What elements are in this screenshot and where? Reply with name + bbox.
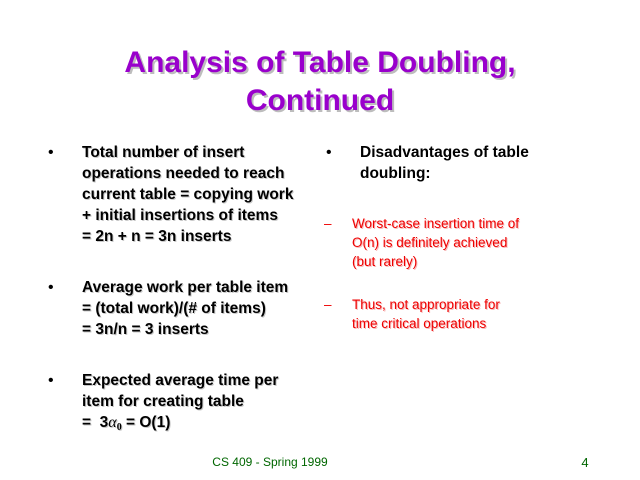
slide-title-line-2: Continued (40, 82, 600, 120)
bullet-line: = (total work)/(# of items) (82, 298, 330, 319)
sub-bullet-text: Worst-case insertion time of O(n) is def… (352, 214, 618, 271)
sub-bullet-item-not-appropriate: – Thus, not appropriate for time critica… (318, 295, 618, 333)
bullet-item-expected-time: • Expected average time per item for cre… (40, 370, 330, 438)
formula-prefix: = 3 (82, 414, 108, 431)
slide-canvas: Analysis of Table Doubling, Continued • … (0, 0, 640, 480)
sub-bullet-line: (but rarely) (352, 252, 618, 271)
left-content-column: • Total number of insert operations need… (40, 142, 330, 468)
bullet-line: operations needed to reach (82, 163, 330, 184)
sub-bullet-line: O(n) is definitely achieved (352, 233, 618, 252)
bullet-marker-icon: • (48, 370, 54, 391)
bullet-item-disadvantages: • Disadvantages of table doubling: (318, 142, 618, 184)
formula-alpha-symbol: α (108, 414, 116, 431)
slide-title-line-1: Analysis of Table Doubling, (40, 44, 600, 82)
sub-bullet-line: Worst-case insertion time of (352, 214, 618, 233)
bullet-marker-icon: • (48, 142, 54, 163)
bullet-line: Disadvantages of table (360, 142, 618, 163)
bullet-line: = 3n/n = 3 inserts (82, 319, 330, 340)
bullet-line: + initial insertions of items (82, 205, 330, 226)
right-content-column: • Disadvantages of table doubling: – Wor… (318, 142, 618, 357)
bullet-line: = 2n + n = 3n inserts (82, 226, 330, 247)
sub-bullet-line: time critical operations (352, 314, 618, 333)
bullet-item-total-inserts: • Total number of insert operations need… (40, 142, 330, 247)
bullet-item-average-work: • Average work per table item = (total w… (40, 277, 330, 340)
bullet-line: Expected average time per (82, 370, 330, 391)
bullet-text: Expected average time per item for creat… (82, 370, 330, 438)
dash-marker-icon: – (324, 214, 332, 233)
bullet-line: current table = copying work (82, 184, 330, 205)
bullet-formula: = 3α0 = O(1) (82, 412, 330, 438)
bullet-text: Total number of insert operations needed… (82, 142, 330, 247)
dash-marker-icon: – (324, 295, 332, 314)
bullet-marker-icon: • (326, 142, 332, 163)
bullet-line: doubling: (360, 163, 618, 184)
bullet-marker-icon: • (48, 277, 54, 298)
bullet-line: item for creating table (82, 391, 330, 412)
footer-page-number: 4 (560, 455, 610, 470)
sub-bullet-list: – Worst-case insertion time of O(n) is d… (318, 214, 618, 333)
formula-suffix: = O(1) (122, 414, 171, 431)
bullet-line: Total number of insert (82, 142, 330, 163)
sub-bullet-line: Thus, not appropriate for (352, 295, 618, 314)
sub-bullet-text: Thus, not appropriate for time critical … (352, 295, 618, 333)
bullet-line: Average work per table item (82, 277, 330, 298)
slide-title: Analysis of Table Doubling, Continued (40, 44, 600, 120)
sub-bullet-item-worst-case: – Worst-case insertion time of O(n) is d… (318, 214, 618, 271)
bullet-text: Disadvantages of table doubling: (360, 142, 618, 184)
bullet-text: Average work per table item = (total wor… (82, 277, 330, 340)
footer-course-label: CS 409 - Spring 1999 (0, 455, 540, 469)
